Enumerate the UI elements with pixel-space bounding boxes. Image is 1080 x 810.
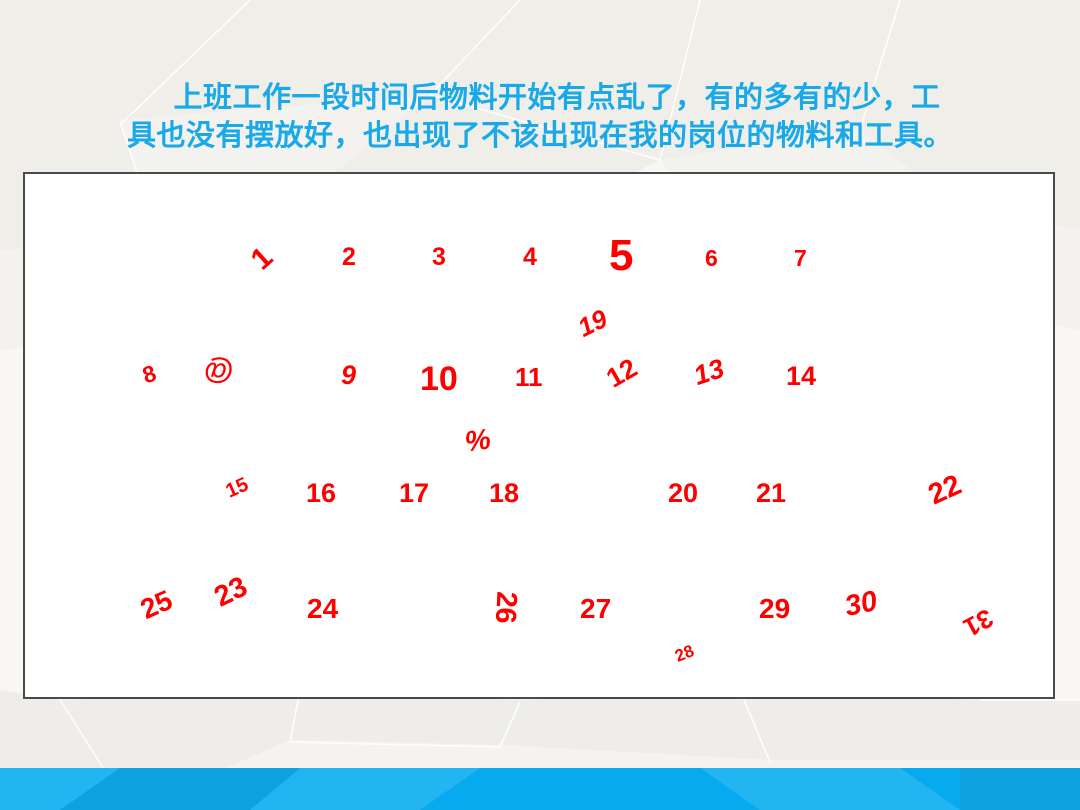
board-token: 9: [341, 362, 356, 389]
content-panel: 1234567198@91011121314%15161718202122252…: [23, 172, 1055, 699]
board-token: 7: [794, 247, 807, 270]
page-title: 上班工作一段时间后物料开始有点乱了，有的多有的少，工 具也没有摆放好，也出现了不…: [0, 78, 1080, 154]
board-token: 2: [342, 245, 356, 270]
board-token: 12: [602, 354, 642, 392]
board-token: 17: [399, 480, 429, 507]
board-token: 29: [759, 595, 790, 623]
board-token: 25: [137, 586, 177, 624]
board-token: 21: [756, 480, 786, 507]
board-token: 14: [786, 363, 816, 390]
bottom-accent-bar: [0, 768, 1080, 810]
board-token: 22: [924, 471, 965, 511]
slide-canvas: 上班工作一段时间后物料开始有点乱了，有的多有的少，工 具也没有摆放好，也出现了不…: [0, 0, 1080, 810]
board-token: 30: [842, 587, 880, 622]
board-token: 27: [580, 595, 611, 623]
title-line-1: 上班工作一段时间后物料开始有点乱了，有的多有的少，工: [0, 78, 1080, 116]
board-token: 1: [246, 242, 278, 275]
board-token: 24: [307, 595, 338, 623]
board-token: 11: [515, 364, 543, 390]
board-token: 16: [306, 480, 336, 507]
board-token: 31: [960, 605, 998, 642]
board-token: 20: [668, 480, 698, 507]
board-token: %: [463, 425, 493, 457]
board-token: 15: [223, 474, 251, 501]
board-token: 18: [489, 480, 519, 507]
board-token: 13: [691, 355, 728, 390]
board-token: 8: [140, 362, 159, 388]
board-token: 6: [705, 247, 718, 270]
number-scatter-board: 1234567198@91011121314%15161718202122252…: [25, 174, 1053, 697]
board-token: 4: [523, 245, 537, 270]
board-token: 10: [420, 362, 458, 396]
board-token: 23: [210, 572, 252, 612]
title-line-2: 具也没有摆放好，也出现了不该出现在我的岗位的物料和工具。: [0, 116, 1080, 154]
board-token: @: [203, 355, 235, 387]
bottom-bar-polygon-pattern: [0, 768, 1080, 810]
board-token: 26: [490, 591, 521, 625]
board-token: 5: [609, 234, 633, 278]
board-token: 3: [432, 245, 446, 270]
board-token: 19: [574, 305, 611, 341]
board-token: 28: [673, 642, 697, 665]
